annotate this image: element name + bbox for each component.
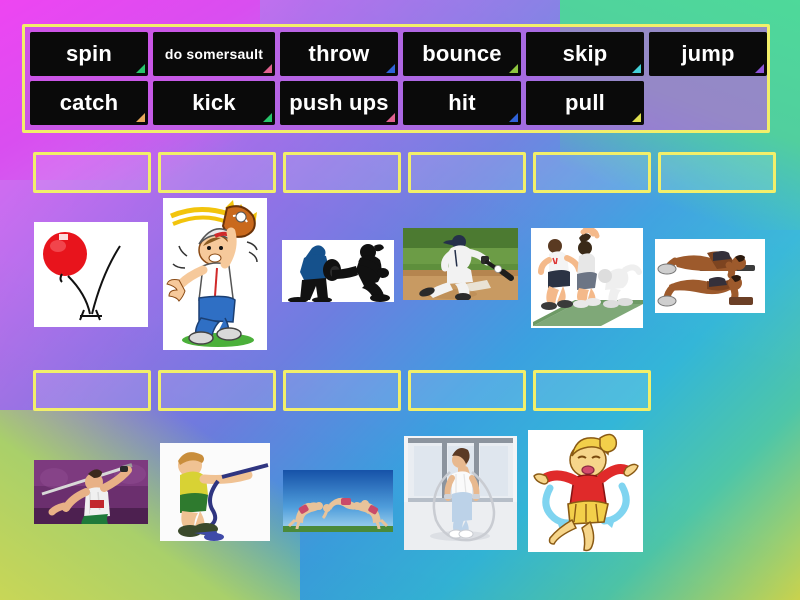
word-bank-empty-slot [649, 81, 767, 125]
drop-zone-row-2 [33, 370, 651, 411]
drop-zone-bounce[interactable] [33, 152, 151, 193]
drop-zone-kick[interactable] [283, 152, 401, 193]
drag-handle-corner-icon[interactable] [263, 113, 272, 122]
word-tile-label: jump [681, 41, 734, 67]
drop-zone-push-ups[interactable] [658, 152, 776, 193]
drop-zone-pull[interactable] [158, 370, 276, 411]
drag-handle-corner-icon[interactable] [386, 64, 395, 73]
word-tile-push-ups[interactable]: push ups [280, 81, 398, 125]
image-martial-arts-kick [282, 240, 394, 302]
word-tile-hit[interactable]: hit [403, 81, 521, 125]
image-boy-pulling-rope [160, 443, 270, 541]
drag-handle-corner-icon[interactable] [755, 64, 764, 73]
word-tile-bounce[interactable]: bounce [403, 32, 521, 76]
drop-zone-catch[interactable] [158, 152, 276, 193]
image-athletes-jumping [531, 228, 643, 328]
word-tile-label: throw [309, 41, 370, 67]
image-woman-skipping-rope [404, 436, 517, 550]
word-tile-label: spin [66, 41, 112, 67]
word-tile-label: hit [448, 90, 475, 116]
word-tile-label: kick [192, 90, 236, 116]
drop-zone-row-1 [33, 152, 776, 193]
drop-zone-throw[interactable] [33, 370, 151, 411]
image-gymnast-somersault [283, 470, 393, 532]
word-tile-jump[interactable]: jump [649, 32, 767, 76]
word-tile-do-somersault[interactable]: do somersault [153, 32, 275, 76]
drag-handle-corner-icon[interactable] [509, 64, 518, 73]
word-tile-throw[interactable]: throw [280, 32, 398, 76]
drag-handle-corner-icon[interactable] [509, 113, 518, 122]
word-tile-kick[interactable]: kick [153, 81, 275, 125]
word-tile-catch[interactable]: catch [30, 81, 148, 125]
drag-handle-corner-icon[interactable] [136, 64, 145, 73]
word-tile-label: do somersault [165, 46, 263, 62]
drag-handle-corner-icon[interactable] [136, 113, 145, 122]
word-tile-label: push ups [289, 90, 388, 116]
image-boy-catching-baseball [163, 198, 267, 350]
image-baseball-batter-hitting [403, 228, 518, 300]
word-tile-label: skip [563, 41, 608, 67]
word-tile-label: bounce [422, 41, 501, 67]
word-tile-pull[interactable]: pull [526, 81, 644, 125]
drop-zone-spin[interactable] [533, 370, 651, 411]
image-javelin-thrower [34, 460, 148, 524]
word-tile-label: catch [60, 90, 118, 116]
drop-zone-jump[interactable] [533, 152, 651, 193]
drag-handle-corner-icon[interactable] [632, 113, 641, 122]
word-tile-spin[interactable]: spin [30, 32, 148, 76]
drag-handle-corner-icon[interactable] [386, 113, 395, 122]
drop-zone-do-somersault[interactable] [283, 370, 401, 411]
image-man-doing-push-ups [655, 239, 765, 313]
word-bank-row-2: catch kick push ups hit pull [30, 81, 762, 125]
drag-handle-corner-icon[interactable] [632, 64, 641, 73]
drag-handle-corner-icon[interactable] [263, 64, 272, 73]
word-tile-skip[interactable]: skip [526, 32, 644, 76]
drop-zone-hit[interactable] [408, 152, 526, 193]
word-bank-row-1: spin do somersault throw bounce skip jum… [30, 32, 762, 76]
drop-zone-skip[interactable] [408, 370, 526, 411]
image-bouncing-ball [34, 222, 148, 327]
image-girl-spinning [528, 430, 643, 552]
word-bank: spin do somersault throw bounce skip jum… [22, 24, 770, 133]
word-tile-label: pull [565, 90, 605, 116]
